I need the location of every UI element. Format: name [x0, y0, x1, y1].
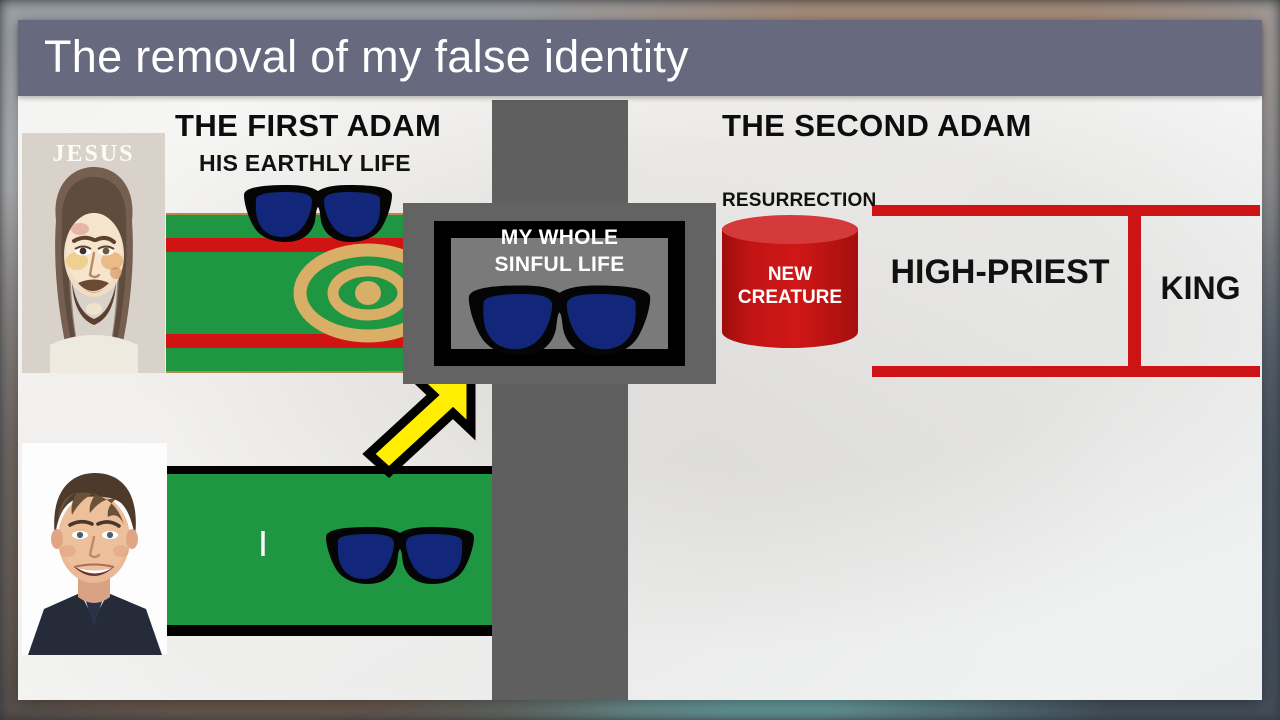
panel-top-bar [872, 205, 1260, 216]
roles-panel: HIGH-PRIEST KING [872, 205, 1260, 377]
man-photo-illustration [22, 443, 167, 655]
jesus-face-illustration [22, 133, 165, 373]
jesus-portrait-label: JESUS [22, 141, 165, 168]
panel-cell-king: KING [1141, 270, 1260, 307]
slide-title-bar: The removal of my false identity [18, 20, 1262, 96]
sinful-life-text: MY WHOLE SINFUL LIFE [403, 225, 716, 279]
subheading-earthly-life: HIS EARTHLY LIFE [199, 150, 411, 177]
yellow-arrow-icon [355, 368, 485, 478]
panel-cell-high-priest: HIGH-PRIEST [872, 253, 1128, 292]
cylinder-label-line2: CREATURE [722, 286, 858, 309]
sunglasses-icon-bottom [320, 525, 480, 587]
man-portrait [22, 443, 167, 655]
sunglasses-icon-center [457, 283, 662, 359]
heading-first-adam: THE FIRST ADAM [175, 108, 441, 144]
banner-edge-bottom [166, 625, 496, 636]
cylinder-label: NEW CREATURE [722, 263, 858, 309]
sinful-life-box: MY WHOLE SINFUL LIFE [403, 203, 716, 384]
jesus-portrait: JESUS [22, 133, 165, 373]
page-title: The removal of my false identity [44, 31, 689, 83]
label-resurrection: RESURRECTION [722, 190, 876, 212]
new-creature-cylinder: NEW CREATURE [722, 215, 858, 361]
sinful-life-line1: MY WHOLE [403, 225, 716, 252]
cylinder-label-line1: NEW [722, 263, 858, 286]
sinful-life-line2: SINFUL LIFE [403, 252, 716, 279]
panel-bottom-bar [872, 366, 1260, 377]
identity-letter-label: I [258, 526, 268, 562]
heading-second-adam: THE SECOND ADAM [722, 108, 1032, 144]
sunglasses-icon-top [238, 183, 398, 245]
cylinder-top-ellipse [722, 215, 858, 244]
panel-divider [1128, 211, 1141, 371]
cross-vertical-post [492, 100, 628, 700]
slide-viewport: JESUS THE FIRST ADAM HIS EARTHLY LIFE [0, 0, 1280, 720]
